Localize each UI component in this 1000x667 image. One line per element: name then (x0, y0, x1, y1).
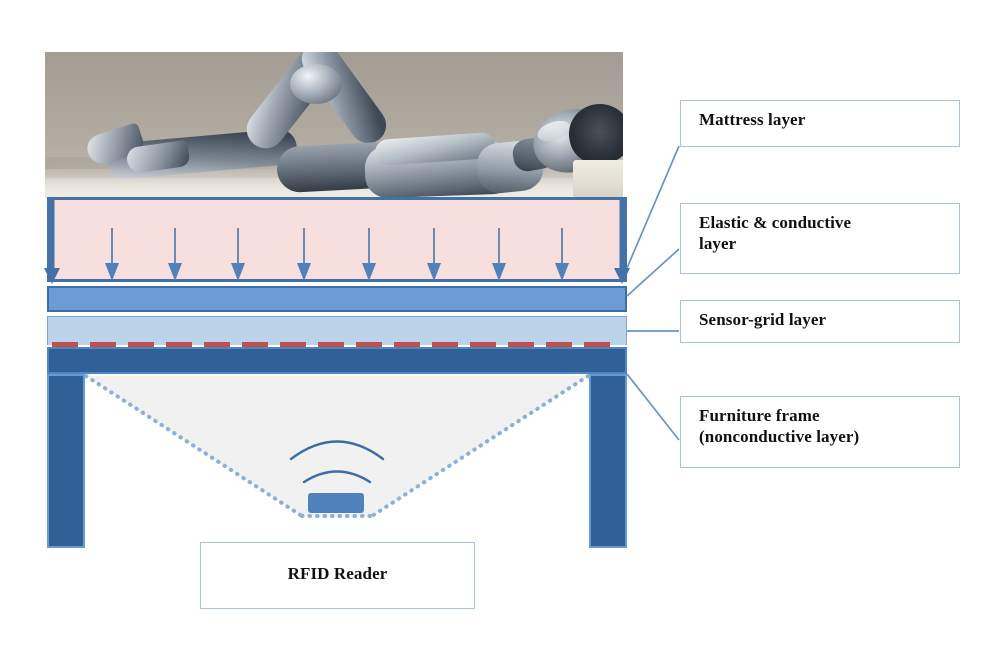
leader-line-mattress (627, 146, 679, 268)
pillow (573, 160, 623, 198)
label-box-sensor-grid-layer[interactable]: Sensor-grid layer (680, 300, 960, 343)
label-text-frame-line2: (nonconductive layer) (699, 427, 859, 446)
label-text-frame-line1: Furniture frame (699, 406, 820, 425)
furniture-frame-rail (47, 347, 627, 374)
label-box-mattress-layer[interactable]: Mattress layer (680, 100, 960, 147)
label-text-elastic-line2: layer (699, 234, 736, 253)
layer-sensor-grid (47, 316, 627, 345)
label-text-rfid-reader: RFID Reader (288, 564, 388, 583)
label-text-sensor: Sensor-grid layer (699, 310, 826, 329)
person-knee (290, 64, 342, 104)
label-box-rfid-reader[interactable]: RFID Reader (200, 542, 475, 609)
label-box-furniture-frame[interactable]: Furniture frame (nonconductive layer) (680, 396, 960, 468)
layer-mattress (47, 197, 627, 282)
label-box-elastic-conductive-layer[interactable]: Elastic & conductive layer (680, 203, 960, 274)
bed-photograph (45, 52, 623, 198)
layer-elastic-conductive (47, 286, 627, 312)
under-bed-space (85, 374, 589, 548)
furniture-frame-leg-left (47, 374, 85, 548)
furniture-frame-leg-right (589, 374, 627, 548)
leader-line-elastic (627, 249, 679, 296)
leader-line-frame (627, 374, 679, 440)
diagram-canvas: Mattress layer Elastic & conductive laye… (0, 0, 1000, 667)
label-text-elastic-line1: Elastic & conductive (699, 213, 851, 232)
label-text-mattress: Mattress layer (699, 110, 805, 129)
